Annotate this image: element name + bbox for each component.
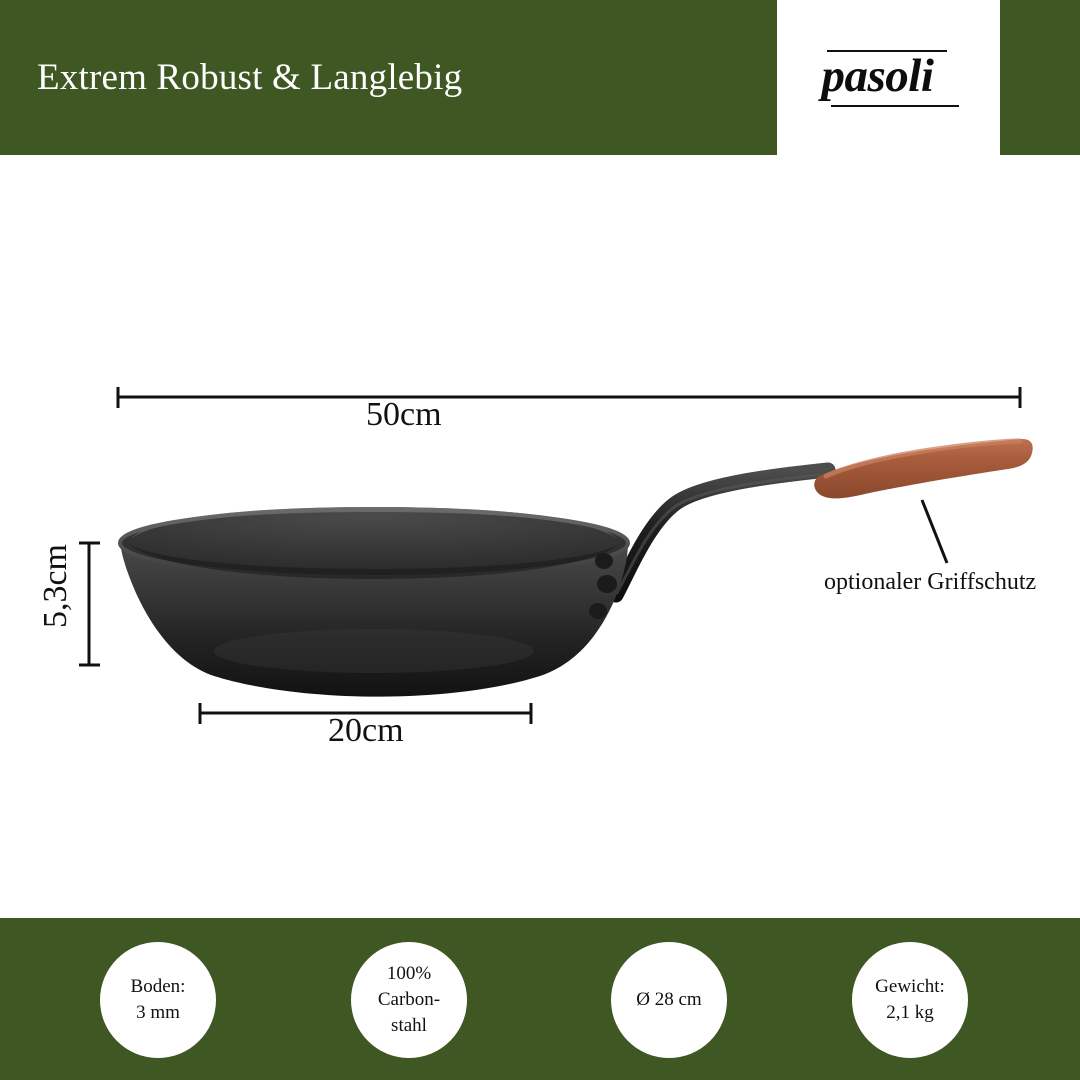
handle-grip-sleeve [814, 439, 1032, 498]
spec-badge-line: 100% [387, 961, 431, 987]
page-title: Extrem Robust & Langlebig [37, 55, 462, 101]
spec-badge-line: 2,1 kg [886, 1000, 934, 1026]
pan-handle [616, 470, 828, 595]
dimension-label-width-base: 20cm [328, 711, 404, 751]
brand-logo: pasoli [777, 0, 1000, 155]
dimension-height [79, 543, 100, 665]
logo-wordmark: pasoli [822, 47, 972, 105]
spec-badge-line: stahl [391, 1013, 427, 1039]
spec-badge-gewicht: Gewicht: 2,1 kg [852, 942, 968, 1058]
logo-rule-bottom [831, 105, 959, 107]
dimension-label-width-total: 50cm [366, 395, 442, 435]
spec-badge-line: Ø 28 cm [636, 987, 701, 1013]
spec-badge-boden: Boden: 3 mm [100, 942, 216, 1058]
dimension-label-height: 5,3cm [36, 521, 76, 651]
dimension-width-total [118, 387, 1020, 408]
product-diagram [0, 155, 1080, 918]
spec-badge-line: 3 mm [136, 1000, 180, 1026]
logo-mark: pasoli [814, 45, 964, 111]
spec-badge-material: 100% Carbon- stahl [351, 942, 467, 1058]
pan-body [120, 507, 628, 697]
spec-badge-line: Carbon- [378, 987, 440, 1013]
spec-badge-line: Gewicht: [875, 974, 945, 1000]
spec-badge-line: Boden: [131, 974, 186, 1000]
grip-note-label: optionaler Griffschutz [824, 567, 1036, 597]
footer-band: Boden: 3 mm 100% Carbon- stahl Ø 28 cm G… [0, 918, 1080, 1080]
spec-badge-durchmesser: Ø 28 cm [611, 942, 727, 1058]
grip-note-leader-line [922, 500, 947, 563]
header-band: Extrem Robust & Langlebig pasoli [0, 0, 1080, 155]
product-illustration-stage: 50cm 20cm 5,3cm optionaler Griffschutz [0, 155, 1080, 918]
